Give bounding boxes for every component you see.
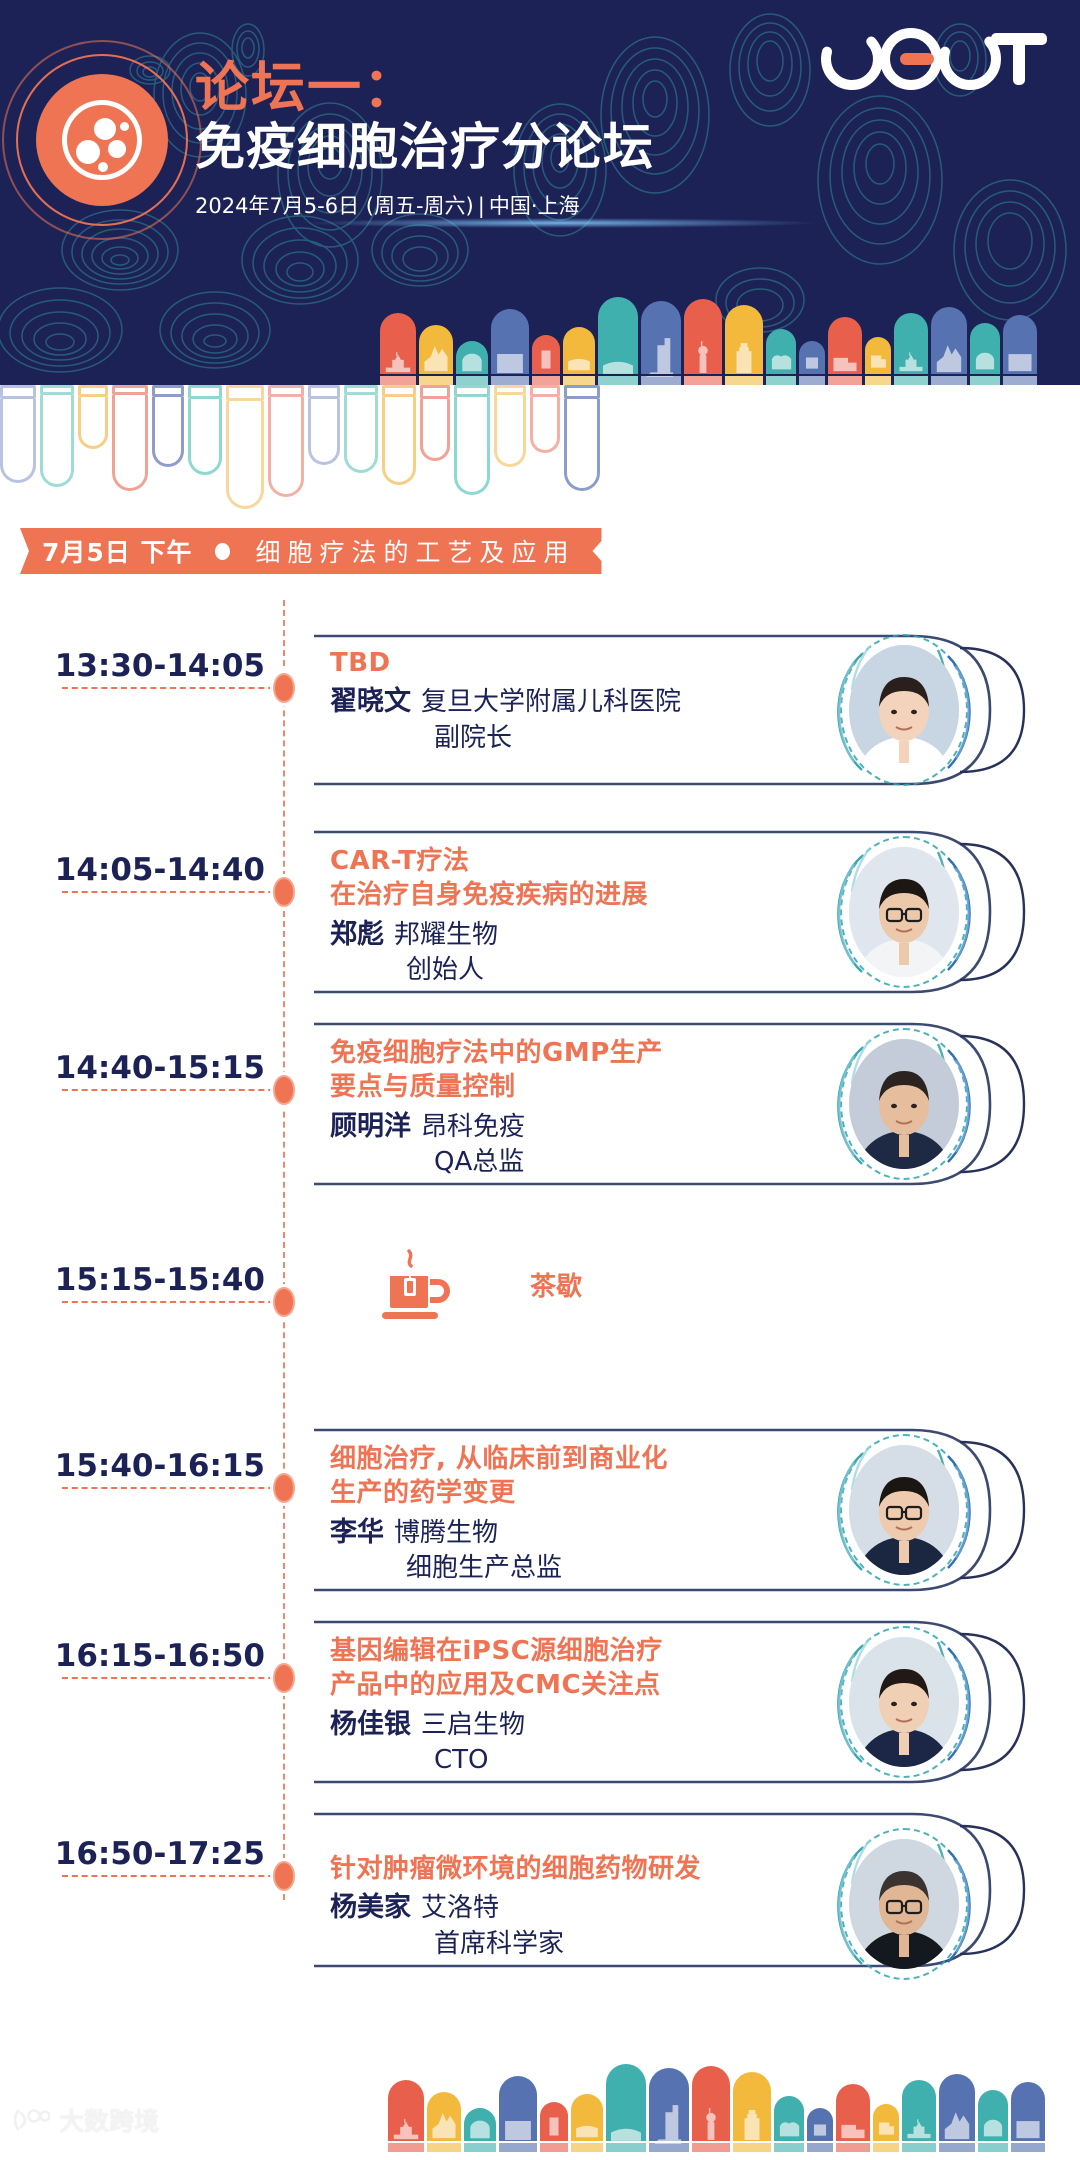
portrait-photo <box>849 1039 959 1169</box>
skyline-tube <box>380 313 416 385</box>
skyline-tube <box>799 341 825 385</box>
skyline-tube <box>1011 2082 1045 2152</box>
timeline-node[interactable] <box>273 673 295 703</box>
skyline-tube <box>902 2080 936 2152</box>
speaker-name: 翟晓文 <box>330 686 411 717</box>
timeline-tick <box>62 1677 284 1679</box>
skyline-tube <box>427 2092 461 2152</box>
skyline-tube <box>725 305 763 385</box>
skyline-tube <box>684 299 722 385</box>
skyline-tube <box>873 2104 899 2152</box>
speaker-name: 杨佳银 <box>330 1709 411 1740</box>
skyline-tube <box>766 329 796 385</box>
speaker-name: 顾明洋 <box>330 1111 411 1142</box>
skyline-decor-footer <box>388 2062 1045 2152</box>
timeline-tick <box>62 1875 284 1877</box>
event-location: 中国·上海 <box>489 194 580 218</box>
portrait-photo <box>849 1637 959 1767</box>
skyline-tube <box>733 2072 771 2152</box>
test-tube-outline <box>454 385 490 495</box>
watermark-text: 大数跨境 <box>59 2102 159 2138</box>
logo-mark-icon <box>14 2107 50 2133</box>
test-tube-outline-decor <box>0 385 600 509</box>
speaker-org: 三启生物 <box>421 1710 525 1740</box>
speaker-org: 博腾生物 <box>394 1518 498 1548</box>
skyline-tube <box>598 297 638 385</box>
timeline-node[interactable] <box>273 1287 295 1317</box>
test-tube-outline <box>308 385 340 465</box>
agenda-time: 14:05-14:40 <box>20 852 265 888</box>
speaker-org: 昂科免疫 <box>421 1112 525 1142</box>
timeline-node[interactable] <box>273 877 295 907</box>
agenda-card[interactable]: TBD翟晓文复旦大学附属儿科医院副院长 <box>312 630 1052 790</box>
speaker-portrait <box>840 1626 968 1778</box>
skyline-tube <box>563 327 595 385</box>
timeline-tick <box>62 1487 284 1489</box>
test-tube-outline <box>40 385 74 487</box>
timeline-node[interactable] <box>273 1861 295 1891</box>
test-tube-outline <box>494 385 526 467</box>
skyline-tube <box>456 341 488 385</box>
test-tube-outline <box>226 385 264 509</box>
skyline-tube <box>894 313 928 385</box>
test-tube-outline <box>382 385 416 485</box>
timeline-tick <box>62 1301 284 1303</box>
skyline-tube <box>970 323 1000 385</box>
skyline-tube <box>499 2076 537 2152</box>
skyline-tube <box>939 2074 975 2152</box>
agenda-time: 15:40-16:15 <box>20 1448 265 1484</box>
test-tube-outline <box>530 385 560 453</box>
skyline-tube <box>419 325 453 385</box>
speaker-portrait <box>840 1434 968 1586</box>
test-tube-outline <box>188 385 222 475</box>
skyline-tube <box>978 2090 1008 2152</box>
poster-page: CGCT 论坛一： 免疫细胞治疗分论坛 2024年7月5-6日 (周五-周六)|… <box>0 0 1080 2160</box>
speaker-org: 邦耀生物 <box>394 920 498 950</box>
portrait-photo <box>849 847 959 977</box>
session-banner: 7月5日 下午 细胞疗法的工艺及应用 <box>20 528 602 574</box>
portrait-photo <box>849 1445 959 1575</box>
timeline-tick <box>62 687 284 689</box>
skyline-tube <box>865 337 891 385</box>
skyline-decor-header <box>380 293 1037 385</box>
speaker-portrait <box>840 1028 968 1180</box>
timeline-tick <box>62 1089 284 1091</box>
test-tube-outline <box>344 385 378 473</box>
agenda-time: 15:15-15:40 <box>20 1262 265 1298</box>
skyline-tube <box>606 2064 646 2152</box>
speaker-name: 李华 <box>330 1517 384 1548</box>
break-label: 茶歇 <box>530 1266 582 1303</box>
skyline-tube <box>828 317 862 385</box>
skyline-tube <box>836 2084 870 2152</box>
header-title-block: 论坛一： 免疫细胞治疗分论坛 2024年7月5-6日 (周五-周六)|中国·上海 <box>195 60 654 220</box>
speaker-portrait <box>840 634 968 786</box>
test-tube-outline <box>0 385 36 483</box>
portrait-photo <box>849 645 959 775</box>
forum-number-title: 论坛一： <box>195 60 654 117</box>
agenda-card[interactable]: 基因编辑在iPSC源细胞治疗产品中的应用及CMC关注点杨佳银三启生物CTO <box>312 1616 1052 1788</box>
date-separator: | <box>478 194 485 218</box>
agenda-time: 14:40-15:15 <box>20 1050 265 1086</box>
test-tube-outline <box>420 385 450 461</box>
speaker-portrait <box>840 1828 968 1980</box>
skyline-tube <box>540 2102 568 2152</box>
portrait-photo <box>849 1839 959 1969</box>
skyline-tube <box>774 2096 804 2152</box>
skyline-tube <box>931 307 967 385</box>
agenda-card[interactable]: 免疫细胞疗法中的GMP生产要点与质量控制顾明洋昂科免疫QA总监 <box>312 1018 1052 1190</box>
skyline-tube <box>692 2066 730 2152</box>
speaker-name: 杨美家 <box>330 1892 411 1923</box>
skyline-tube <box>532 335 560 385</box>
skyline-tube <box>1003 315 1037 385</box>
skyline-tube <box>571 2094 603 2152</box>
timeline-node[interactable] <box>273 1473 295 1503</box>
agenda-card[interactable]: 针对肿瘤微环境的细胞药物研发杨美家艾洛特首席科学家 <box>312 1808 1052 1972</box>
test-tube-outline <box>564 385 600 491</box>
watermark: 大数跨境 <box>14 2102 159 2138</box>
agenda-card[interactable]: 细胞治疗, 从临床前到商业化生产的药学变更李华博腾生物细胞生产总监 <box>312 1424 1052 1596</box>
cell-petri-dish-icon <box>36 74 168 206</box>
cgct-brand-logo-icon: CGCT <box>818 22 1048 96</box>
skyline-tube <box>464 2108 496 2152</box>
dot-icon <box>215 543 230 560</box>
agenda-card[interactable]: CAR-T疗法在治疗自身免疫疾病的进展郑彪邦耀生物创始人 <box>312 826 1052 998</box>
forum-name-title: 免疫细胞治疗分论坛 <box>195 119 654 177</box>
test-tube-outline <box>112 385 148 491</box>
session-topic-label: 细胞疗法的工艺及应用 <box>256 533 576 569</box>
speaker-org: 艾洛特 <box>421 1893 499 1923</box>
tea-cup-icon <box>368 1244 460 1328</box>
timeline-node[interactable] <box>273 1663 295 1693</box>
timeline-tick <box>62 891 284 893</box>
event-date: 2024年7月5-6日 (周五-周六) <box>195 194 474 218</box>
skyline-tube <box>649 2068 689 2152</box>
skyline-tube <box>641 301 681 385</box>
agenda-time: 16:15-16:50 <box>20 1638 265 1674</box>
timeline-node[interactable] <box>273 1075 295 1105</box>
test-tube-outline <box>152 385 184 467</box>
speaker-org: 复旦大学附属儿科医院 <box>421 687 681 717</box>
test-tube-outline <box>78 385 108 449</box>
speaker-portrait <box>840 836 968 988</box>
test-tube-outline <box>268 385 304 497</box>
event-date-location: 2024年7月5-6日 (周五-周六)|中国·上海 <box>195 190 654 220</box>
session-day-label: 7月5日 下午 <box>42 533 193 569</box>
timeline-axis <box>283 600 285 1900</box>
agenda-time: 13:30-14:05 <box>20 648 265 684</box>
speaker-name: 郑彪 <box>330 919 384 950</box>
poster-header: CGCT 论坛一： 免疫细胞治疗分论坛 2024年7月5-6日 (周五-周六)|… <box>0 0 1080 385</box>
skyline-tube <box>807 2108 833 2152</box>
agenda-time: 16:50-17:25 <box>20 1836 265 1872</box>
skyline-tube <box>491 309 529 385</box>
skyline-tube <box>388 2080 424 2152</box>
